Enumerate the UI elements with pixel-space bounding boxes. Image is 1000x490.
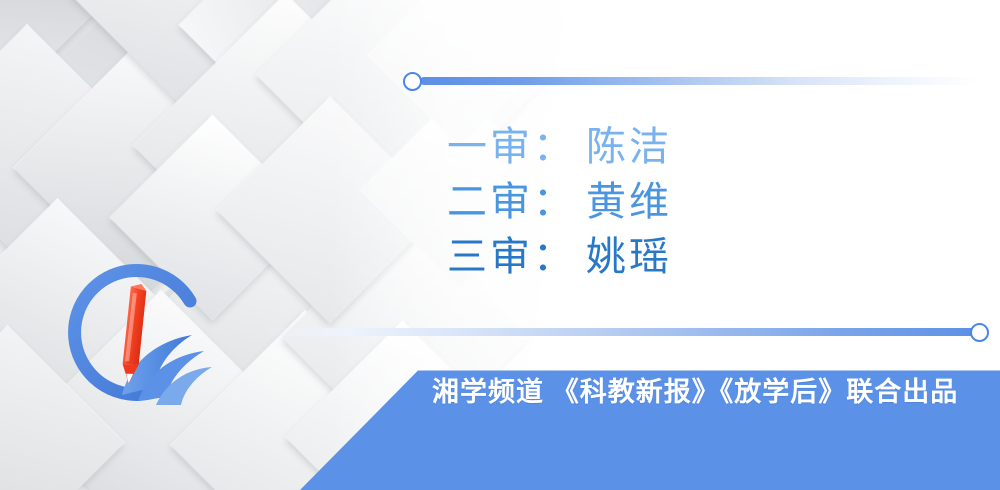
credit-name-2: 黄维 <box>586 180 672 224</box>
credit-line-1: 一审：陈洁 <box>447 120 907 175</box>
brand-logo <box>52 243 220 411</box>
credit-name-3: 姚瑶 <box>586 235 672 279</box>
poster-canvas: 一审：陈洁 二审：黄维 三审：姚瑶 湘学频道 《科教新报》《放学后》联合出品 <box>0 0 1000 490</box>
logo-svg <box>52 243 220 411</box>
credit-label-2: 二审： <box>447 180 576 224</box>
credit-line-3: 三审：姚瑶 <box>447 230 907 285</box>
top-connector-line <box>420 77 980 85</box>
credit-label-3: 三审： <box>447 235 576 279</box>
banner-text: 湘学频道 《科教新报》《放学后》联合出品 <box>432 372 992 412</box>
bottom-connector-line <box>262 328 982 336</box>
bottom-connector-dot-icon <box>970 323 989 342</box>
top-connector-dot-icon <box>403 72 422 91</box>
credit-name-1: 陈洁 <box>586 125 672 169</box>
credit-label-1: 一审： <box>447 125 576 169</box>
credits-block: 一审：陈洁 二审：黄维 三审：姚瑶 <box>447 120 907 285</box>
credit-line-2: 二审：黄维 <box>447 175 907 230</box>
